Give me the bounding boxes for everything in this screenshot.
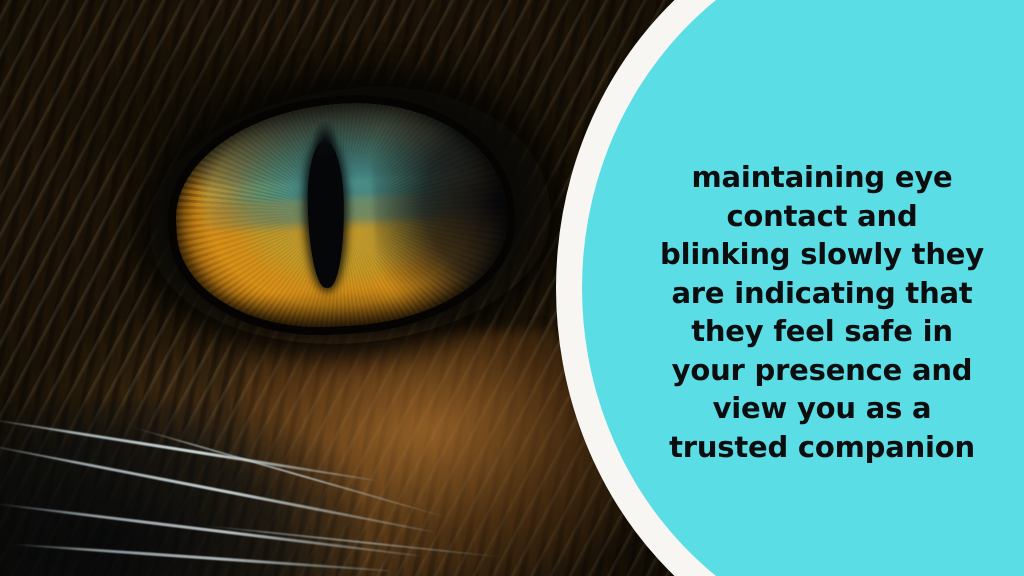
quote-text: maintaining eye contact and blinking slo… xyxy=(636,158,1008,466)
quote-card-canvas: maintaining eye contact and blinking slo… xyxy=(0,0,1024,576)
